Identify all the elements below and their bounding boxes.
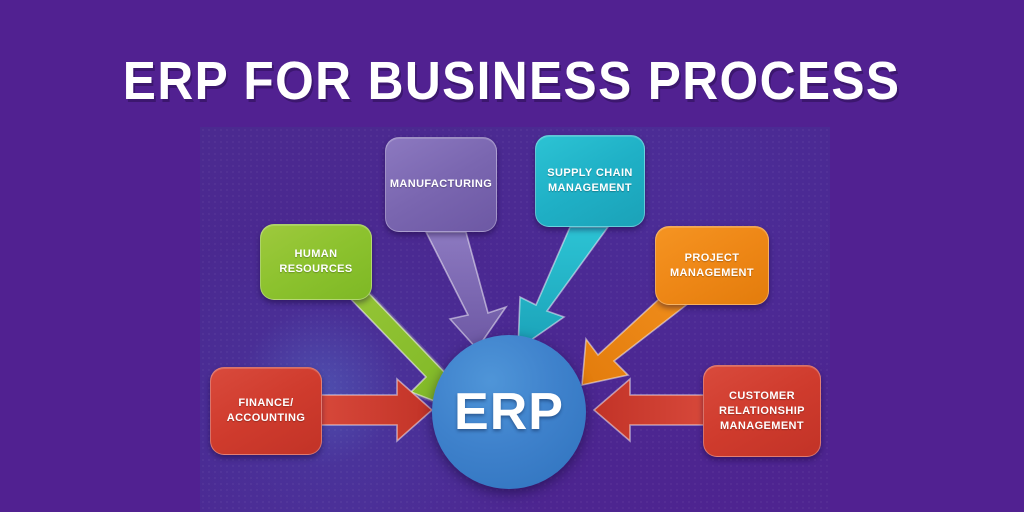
node-human-resources-label: HUMAN RESOURCES (269, 247, 363, 277)
node-finance-accounting-label: FINANCE/ ACCOUNTING (227, 396, 306, 426)
erp-center-circle[interactable]: ERP (432, 335, 586, 489)
node-customer-relationship-management-label: CUSTOMER RELATIONSHIP MANAGEMENT (712, 389, 812, 434)
node-manufacturing-label: MANUFACTURING (390, 177, 492, 192)
node-project-management-label: PROJECT MANAGEMENT (664, 251, 760, 281)
page-title: ERP FOR BUSINESS PROCESS (123, 52, 901, 110)
node-finance-accounting-label-line1: FINANCE/ (238, 397, 293, 409)
node-manufacturing[interactable]: MANUFACTURING (385, 137, 497, 232)
arrow-supply-chain (518, 227, 608, 349)
node-supply-chain-management-label: SUPPLY CHAIN MANAGEMENT (544, 166, 636, 196)
node-finance-accounting-label-line2: ACCOUNTING (227, 412, 306, 424)
node-finance-accounting[interactable]: FINANCE/ ACCOUNTING (210, 367, 322, 455)
diagram-stage: ERP MANUFACTURING SUPPLY CHAIN MANAGEMEN… (200, 127, 830, 512)
node-project-management[interactable]: PROJECT MANAGEMENT (655, 226, 769, 305)
erp-diagram-panel: ERP MANUFACTURING SUPPLY CHAIN MANAGEMEN… (200, 127, 830, 512)
node-human-resources[interactable]: HUMAN RESOURCES (260, 224, 372, 300)
arrow-customer-relationship (594, 379, 716, 441)
node-supply-chain-management[interactable]: SUPPLY CHAIN MANAGEMENT (535, 135, 645, 227)
erp-center-label: ERP (454, 382, 564, 442)
page-title-bar: ERP FOR BUSINESS PROCESS (0, 52, 1024, 110)
node-customer-relationship-management[interactable]: CUSTOMER RELATIONSHIP MANAGEMENT (703, 365, 821, 457)
arrow-manufacturing (426, 232, 506, 349)
arrow-finance-accounting (308, 379, 432, 441)
